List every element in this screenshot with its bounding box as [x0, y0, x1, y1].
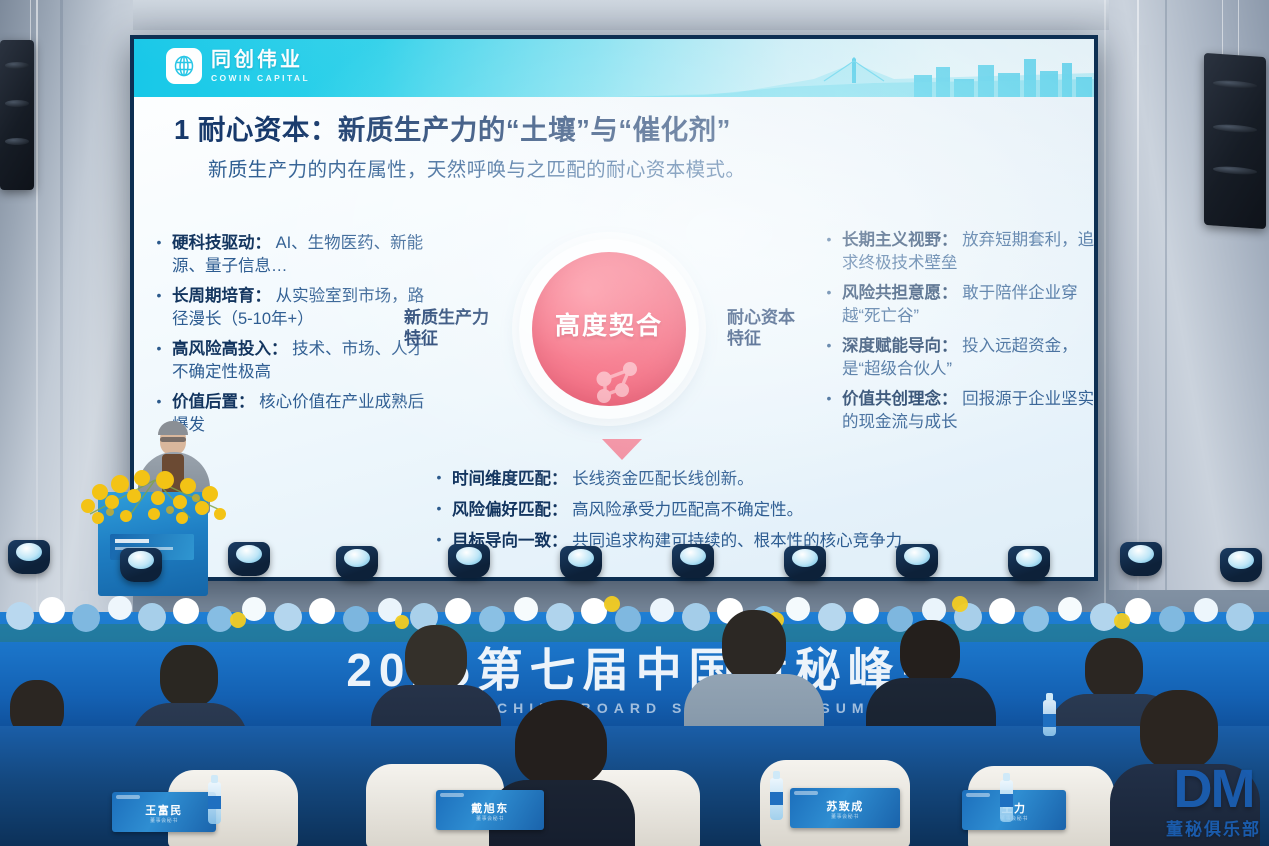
nameplate-name: 王富民	[112, 802, 216, 818]
right-bullet-column: • 长期主义视野： 放弃短期套利，追求终极技术壁垒 • 风险共担意愿： 敢于陪伴…	[824, 229, 1094, 441]
bottom-bullets: • 时间维度匹配： 长线资金匹配长线创新。 • 风险偏好匹配： 高风险承受力匹配…	[434, 467, 974, 553]
list-item: • 价值共创理念： 回报源于企业坚实的现金流与成长	[824, 388, 1094, 434]
nameplate-name: 王力	[962, 800, 1066, 816]
bullet-dot-icon: •	[824, 335, 834, 381]
wall-seam	[1104, 0, 1106, 614]
list-item: • 深度赋能导向： 投入远超资金，是“超级合伙人”	[824, 335, 1094, 381]
left-side-label-line1: 新质生产力	[404, 307, 514, 328]
logo-name-en: COWIN CAPITAL	[211, 74, 310, 83]
list-item: • 高风险高投入： 技术、市场、人才不确定性极高	[154, 338, 432, 384]
presenter-glasses-icon	[160, 437, 186, 442]
nameplate-title: 董事会秘书	[112, 817, 216, 824]
company-logo: 同创伟业 COWIN CAPITAL	[166, 48, 310, 84]
bullet-text: 长线资金匹配长线创新。	[568, 470, 754, 488]
nameplate-title: 董事会秘书	[436, 815, 544, 822]
bullet-text: 高风险承受力匹配高不确定性。	[568, 501, 804, 519]
bullet-dot-icon: •	[434, 467, 444, 491]
city-skyline-graphic	[614, 53, 1094, 97]
slide-header-band: 同创伟业 COWIN CAPITAL	[134, 39, 1094, 97]
stage-flower-row	[0, 586, 1269, 638]
podium-flower-arrangement	[70, 452, 240, 522]
globe-logo-glyph	[171, 53, 197, 79]
projection-screen-frame: 同创伟业 COWIN CAPITAL 1 耐心资本：新质生产力的“土壤”与“催化…	[130, 35, 1098, 581]
bullet-lead: 风险共担意愿：	[842, 284, 958, 302]
nameplate-title: 董事会秘书	[790, 813, 900, 820]
list-item: • 长期主义视野： 放弃短期套利，追求终极技术壁垒	[824, 229, 1094, 275]
right-side-label-line1: 耐心资本	[727, 307, 837, 328]
yellow-flowers	[70, 452, 240, 528]
right-side-label: 耐心资本 特征	[727, 307, 837, 349]
slide-subtitle: 新质生产力的内在属性，天然呼唤与之匹配的耐心资本模式。	[208, 153, 745, 182]
bullet-lead: 风险偏好匹配：	[452, 501, 568, 519]
bullet-dot-icon: •	[824, 229, 834, 275]
nameplate: 王力 董事会秘书	[962, 790, 1066, 830]
bullet-lead: 硬科技驱动：	[172, 234, 271, 252]
watermark-mark: DM	[1166, 765, 1261, 815]
nameplate: 戴旭东 董事会秘书	[436, 790, 544, 830]
bullet-dot-icon: •	[434, 498, 444, 522]
nameplate: 王富民 董事会秘书	[112, 792, 216, 832]
nameplate: 苏致成 董事会秘书	[790, 788, 900, 828]
globe-logo-icon	[166, 48, 202, 84]
right-side-label-line2: 特征	[727, 328, 837, 349]
water-bottle	[770, 778, 783, 820]
speaker-wire	[1238, 0, 1239, 62]
bullet-dot-icon: •	[154, 232, 164, 278]
hanging-speaker-left	[0, 40, 34, 190]
bullet-lead: 价值共创理念：	[842, 390, 958, 408]
bullet-dot-icon: •	[824, 282, 834, 328]
list-item: • 风险共担意愿： 敢于陪伴企业穿越“死亡谷”	[824, 282, 1094, 328]
nameplate-name: 苏致成	[790, 798, 900, 814]
bullet-lead: 长期主义视野：	[842, 231, 958, 249]
water-bottle	[1000, 780, 1013, 822]
center-diagram: 高度契合 新质生产力 特征 耐心资本 特征	[474, 229, 774, 459]
right-bullet-list: • 长期主义视野： 放弃短期套利，追求终极技术壁垒 • 风险共担意愿： 敢于陪伴…	[824, 229, 1094, 434]
bullet-lead: 长周期培育：	[172, 287, 271, 305]
ceiling-strip	[120, 0, 1150, 30]
nameplate-title: 董事会秘书	[962, 815, 1066, 822]
left-bullet-column: • 硬科技驱动： AI、生物医药、新能源、量子信息… • 长周期培育： 从实验室…	[154, 232, 432, 444]
watermark-logo: DM 董秘俱乐部	[1166, 765, 1261, 840]
bullet-dot-icon: •	[154, 338, 164, 384]
left-side-label: 新质生产力 特征	[404, 307, 514, 349]
left-side-label-line2: 特征	[404, 328, 514, 349]
down-triangle-icon	[602, 439, 642, 460]
water-bottle	[208, 782, 221, 824]
bullet-lead: 高风险高投入：	[172, 340, 288, 358]
flower-row-graphic	[0, 586, 1269, 642]
backdrop-subtitle: COWIN · CHINA BOARD SECRETARY SUMMIT	[150, 700, 1150, 716]
bullet-dot-icon: •	[434, 529, 444, 553]
list-item: • 硬科技驱动： AI、生物医药、新能源、量子信息…	[154, 232, 432, 278]
list-item: • 价值后置： 核心价值在产业成熟后爆发	[154, 391, 432, 437]
network-share-icon	[587, 357, 651, 407]
bullet-lead: 深度赋能导向：	[842, 337, 958, 355]
watermark-label: 董秘俱乐部	[1166, 815, 1261, 840]
slide-title: 1 耐心资本：新质生产力的“土壤”与“催化剂”	[174, 107, 731, 147]
bullet-lead: 时间维度匹配：	[452, 470, 568, 488]
circle-label: 高度契合	[555, 306, 663, 342]
list-item: • 风险偏好匹配： 高风险承受力匹配高不确定性。	[434, 498, 974, 522]
water-bottle	[1043, 700, 1056, 736]
presentation-slide: 同创伟业 COWIN CAPITAL 1 耐心资本：新质生产力的“土壤”与“催化…	[134, 39, 1094, 577]
backdrop-title: 2025第七届中国董秘峰会	[150, 634, 1150, 700]
speaker-wire	[1222, 0, 1223, 58]
bullet-lead: 价值后置：	[172, 393, 255, 411]
logo-name-cn: 同创伟业	[211, 50, 310, 70]
bullet-dot-icon: •	[824, 388, 834, 434]
bullet-dot-icon: •	[154, 285, 164, 331]
nameplate-name: 戴旭东	[436, 800, 544, 816]
list-item: • 时间维度匹配： 长线资金匹配长线创新。	[434, 467, 974, 491]
left-bullet-list: • 硬科技驱动： AI、生物医药、新能源、量子信息… • 长周期培育： 从实验室…	[154, 232, 432, 437]
photo-of-conference-stage: 同创伟业 COWIN CAPITAL 1 耐心资本：新质生产力的“土壤”与“催化…	[0, 0, 1269, 846]
bullet-text: 共同追求构建可持续的、根本性的核心竞争力	[568, 532, 903, 550]
hanging-speaker-right	[1204, 53, 1266, 229]
list-item: • 长周期培育： 从实验室到市场，路径漫长（5-10年+）	[154, 285, 432, 331]
